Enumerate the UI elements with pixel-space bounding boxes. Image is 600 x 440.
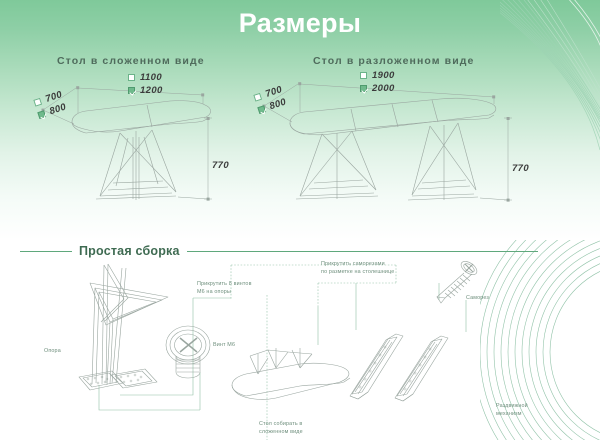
unfolded-height-label: 770 (512, 163, 529, 174)
checkbox-unchecked-icon[interactable] (253, 93, 262, 102)
dimension-value: 1200 (140, 85, 163, 96)
assembly-heading: Простая сборка (72, 244, 187, 258)
folded-height-label: 770 (212, 160, 229, 171)
checkbox-checked-icon[interactable] (257, 105, 266, 114)
label-step-attach-screws: Прикрутить 8 винтов М6 на опоры (197, 281, 252, 297)
label-self-tapping-screw: Саморез (466, 295, 489, 303)
dimension-value: 2000 (372, 83, 395, 94)
label-slide-mechanism: Раздвижной механизм (496, 403, 528, 419)
label-screw-m6: Винт М6 (213, 342, 235, 350)
option-row: 2000 (360, 83, 395, 94)
checkbox-checked-icon[interactable] (360, 85, 367, 92)
checkbox-unchecked-icon[interactable] (360, 72, 367, 79)
assembly-heading-row: Простая сборка (0, 240, 600, 262)
unfolded-width-options: 700 800 (253, 84, 289, 118)
option-row: 1900 (360, 70, 395, 81)
divider-left (20, 251, 72, 252)
section-heading-folded: Стол в сложенном виде (57, 55, 205, 67)
dimension-value: 800 (48, 102, 68, 118)
dimension-value: 1100 (140, 72, 162, 83)
label-step-attach-self-tapping: Прикрутить саморезами по разметке на сто… (321, 261, 394, 277)
folded-length-options: 1100 1200 (128, 72, 163, 98)
folded-width-options: 700 800 (33, 89, 69, 123)
section-heading-unfolded: Стол в разложенном виде (313, 55, 474, 67)
label-support: Опора (44, 348, 61, 356)
option-row: 1100 (128, 72, 163, 83)
checkbox-checked-icon[interactable] (37, 110, 46, 119)
divider-right (187, 251, 538, 252)
dimensions-infographic: { "title": "Размеры", "colors": { "brand… (0, 0, 600, 440)
checkbox-checked-icon[interactable] (128, 87, 135, 94)
dimension-value: 1900 (372, 70, 395, 81)
checkbox-unchecked-icon[interactable] (33, 98, 42, 107)
page-title: Размеры (0, 8, 600, 39)
dimension-value: 800 (268, 97, 288, 113)
label-assemble-folded: Стол собирать в сложенном виде (259, 421, 303, 437)
unfolded-length-options: 1900 2000 (360, 70, 395, 96)
option-row: 1200 (128, 85, 163, 96)
checkbox-unchecked-icon[interactable] (128, 74, 135, 81)
